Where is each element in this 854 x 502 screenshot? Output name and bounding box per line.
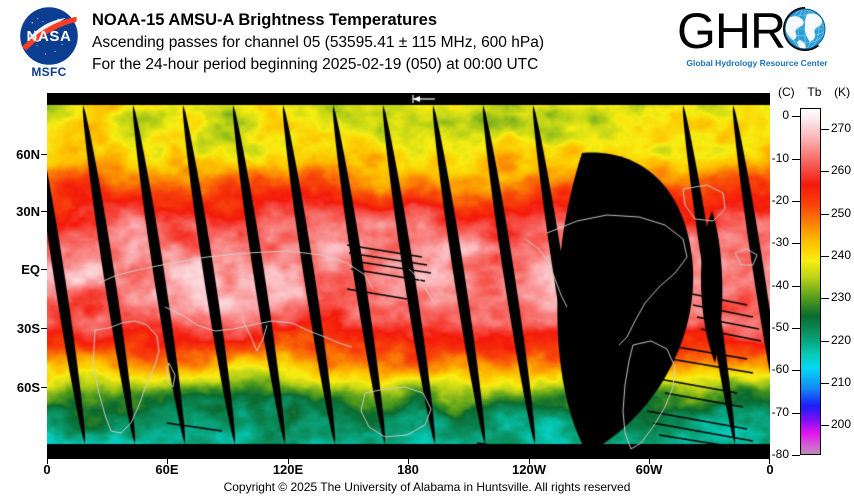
y-tick-mark-30s: [41, 328, 47, 329]
svg-text:GHR: GHR: [677, 4, 785, 59]
period-subtitle: For the 24-hour period beginning 2025-02…: [92, 54, 672, 76]
colorbar-label-k-230: 230: [831, 290, 851, 304]
colorbar-tick-c--40: [792, 286, 800, 287]
y-tick-label-eq: EQ: [0, 262, 40, 277]
colorbar-tick-k-200: [821, 425, 829, 426]
channel-subtitle: Ascending passes for channel 05 (53595.4…: [92, 32, 672, 54]
colorbar-quantity: Tb: [807, 85, 821, 99]
x-tick-label-0e: 0: [43, 462, 50, 477]
x-tick-mark-0e: [47, 459, 48, 464]
colorbar-label-c--40: -40: [756, 278, 789, 292]
nasa-logo: NASA MSFC: [12, 6, 86, 82]
x-tick-label-60w: 60W: [636, 462, 663, 477]
colorbar-gradient: [800, 108, 821, 455]
brightness-temperature-map[interactable]: [47, 93, 770, 459]
svg-text:NASA: NASA: [27, 28, 72, 45]
y-tick-mark-30n: [41, 211, 47, 212]
colorbar-tick-k-220: [821, 341, 829, 342]
colorbar-label-k-270: 270: [831, 121, 851, 135]
colorbar-tick-k-210: [821, 383, 829, 384]
y-tick-label-60n: 60N: [0, 147, 40, 162]
colorbar-label-c--30: -30: [756, 235, 789, 249]
y-tick-mark-60n: [41, 154, 47, 155]
colorbar-tick-c--70: [792, 413, 800, 414]
x-tick-label-120w: 120W: [512, 462, 546, 477]
colorbar-tick-c--10: [792, 159, 800, 160]
colorbar-label-k-250: 250: [831, 206, 851, 220]
y-tick-mark-eq: [41, 269, 47, 270]
colorbar-tick-c--50: [792, 328, 800, 329]
colorbar-label-k-210: 210: [831, 375, 851, 389]
colorbar-tick-k-240: [821, 256, 829, 257]
y-tick-label-30s: 30S: [0, 321, 40, 336]
nasa-meatball-icon: NASA: [19, 6, 79, 66]
colorbar-tick-c--30: [792, 243, 800, 244]
colorbar-label-k-240: 240: [831, 248, 851, 262]
y-tick-mark-60s: [41, 387, 47, 388]
page-title: NOAA-15 AMSU-A Brightness Temperatures: [92, 9, 672, 32]
colorbar-label-c--80: -80: [756, 447, 789, 461]
colorbar-label-c--60: -60: [756, 362, 789, 376]
colorbar-label-k-200: 200: [831, 417, 851, 431]
colorbar-tick-c--20: [792, 201, 800, 202]
colorbar-label-c--50: -50: [756, 320, 789, 334]
colorbar-label-c--20: -20: [756, 193, 789, 207]
colorbar-label-k-220: 220: [831, 333, 851, 347]
colorbar-label-c--70: -70: [756, 405, 789, 419]
colorbar-label-c--10: -10: [756, 151, 789, 165]
x-tick-label-360: 0: [766, 462, 773, 477]
ghrc-tagline: Global Hydrology Resource Center: [676, 58, 838, 68]
nasa-center-label: MSFC: [12, 65, 86, 79]
x-tick-label-120e: 120E: [273, 462, 303, 477]
colorbar-label-k-260: 260: [831, 163, 851, 177]
y-tick-label-30n: 30N: [0, 204, 40, 219]
colorbar-unit-kelvin: (K): [834, 85, 850, 99]
x-tick-mark-180: [408, 459, 409, 464]
x-tick-mark-120e: [288, 459, 289, 464]
map-raster[interactable]: [47, 93, 770, 459]
x-tick-mark-120w: [529, 459, 530, 464]
colorbar-tick-k-260: [821, 171, 829, 172]
x-tick-mark-60e: [167, 459, 168, 464]
colorbar-unit-celsius: (C): [778, 85, 795, 99]
colorbar-header: (C) Tb (K): [778, 85, 854, 99]
copyright-notice: Copyright © 2025 The University of Alaba…: [0, 480, 854, 494]
colorbar-label-c-0: 0: [756, 108, 789, 122]
x-tick-label-180: 180: [397, 462, 419, 477]
colorbar-tick-k-270: [821, 129, 829, 130]
colorbar-tick-k-250: [821, 214, 829, 215]
colorbar-tick-c--80: [792, 455, 800, 456]
y-tick-label-60s: 60S: [0, 380, 40, 395]
ghrc-logo: GHR Global Hydrology Resource Center: [676, 4, 838, 78]
colorbar-tick-c-0: [792, 116, 800, 117]
colorbar-tick-k-230: [821, 298, 829, 299]
x-tick-label-60e: 60E: [155, 462, 178, 477]
colorbar-tick-c--60: [792, 370, 800, 371]
x-tick-mark-60w: [649, 459, 650, 464]
title-block: NOAA-15 AMSU-A Brightness Temperatures A…: [92, 9, 672, 76]
ghrc-wordmark-icon: GHR: [676, 4, 838, 60]
